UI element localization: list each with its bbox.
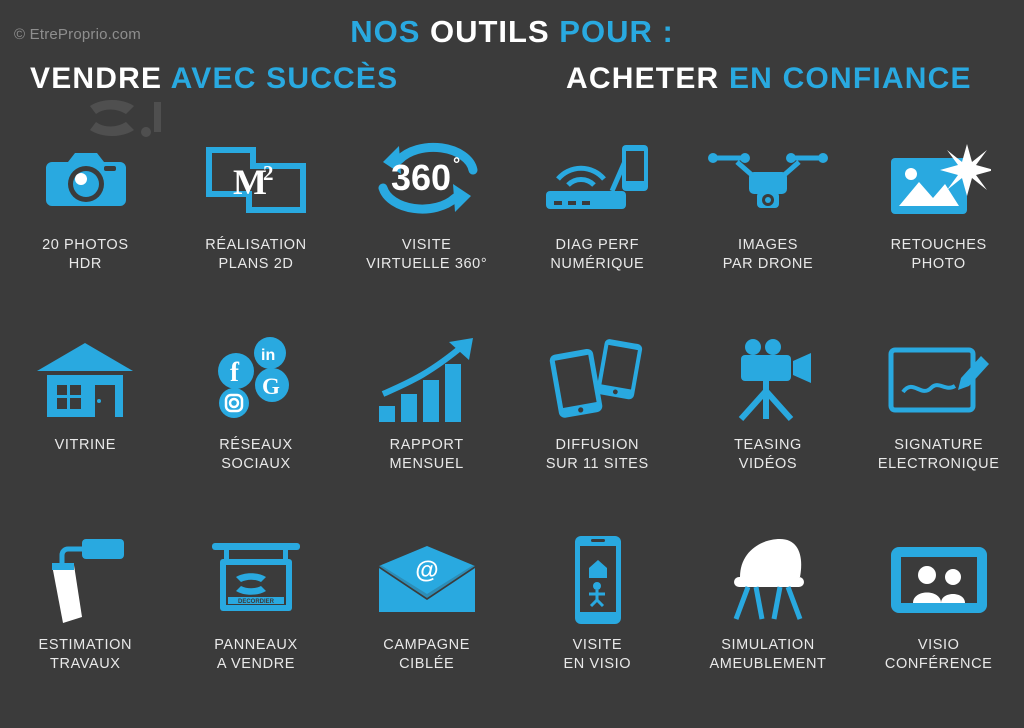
tool-label: 20 PHOTOS HDR	[42, 236, 129, 274]
tool-label: SIMULATION AMEUBLEMENT	[710, 636, 827, 674]
tool-cell-reseaux-sociaux[interactable]: in f G RÉSEAUX SOCIAUX	[171, 332, 342, 532]
tool-cell-panneaux[interactable]: DECORDIER PANNEAUX A VENDRE	[171, 532, 342, 728]
tool-cell-diag-perf[interactable]: DIAG PERF NUMÉRIQUE	[512, 132, 683, 332]
title-part-1: NOS	[350, 14, 430, 49]
tool-cell-vitrine[interactable]: VITRINE	[0, 332, 171, 532]
tool-cell-simulation-ameublement[interactable]: SIMULATION AMEUBLEMENT	[683, 532, 854, 728]
tool-label: RÉSEAUX SOCIAUX	[219, 436, 293, 474]
360-arrows-icon: 360 °	[369, 132, 485, 228]
chair-icon	[722, 532, 814, 628]
social-networks-icon: in f G	[208, 332, 304, 428]
email-envelope-icon: @	[375, 532, 479, 628]
tool-label: DIAG PERF NUMÉRIQUE	[550, 236, 644, 274]
svg-text:°: °	[453, 154, 460, 174]
tool-label: RAPPORT MENSUEL	[390, 436, 464, 474]
tool-label: RÉALISATION PLANS 2D	[205, 236, 306, 274]
tool-label: VISIO CONFÉRENCE	[885, 636, 993, 674]
tool-label: VISITE EN VISIO	[564, 636, 632, 674]
photo-retouch-icon	[887, 132, 991, 228]
tools-grid: 20 PHOTOS HDR M 2 RÉALISATION PLANS 2D	[0, 132, 1024, 728]
subtitle-left: VENDRE AVEC SUCCÈS	[30, 62, 398, 96]
tool-cell-estimation-travaux[interactable]: ESTIMATION TRAVAUX	[0, 532, 171, 728]
svg-text:M: M	[233, 162, 267, 202]
svg-text:360: 360	[391, 157, 451, 198]
tool-cell-plans-2d[interactable]: M 2 RÉALISATION PLANS 2D	[171, 132, 342, 332]
svg-text:G: G	[262, 374, 280, 399]
tool-label: SIGNATURE ELECTRONIQUE	[878, 436, 1000, 474]
bar-chart-arrow-icon	[377, 332, 477, 428]
video-camera-icon	[719, 332, 817, 428]
video-call-phone-icon	[561, 532, 633, 628]
floorplan-m2-icon: M 2	[203, 132, 309, 228]
svg-text:in: in	[261, 347, 275, 364]
tool-cell-visite-visio[interactable]: VISITE EN VISIO	[512, 532, 683, 728]
tool-label: ESTIMATION TRAVAUX	[39, 636, 133, 674]
tool-cell-retouches[interactable]: RETOUCHES PHOTO	[853, 132, 1024, 332]
title-part-2: OUTILS	[430, 14, 550, 49]
tool-cell-rapport-mensuel[interactable]: RAPPORT MENSUEL	[341, 332, 512, 532]
svg-text:@: @	[415, 557, 438, 584]
house-window-icon	[33, 332, 137, 428]
sign-text: DECORDIER	[238, 599, 275, 605]
tool-label: VITRINE	[55, 436, 116, 455]
tool-label: VISITE VIRTUELLE 360°	[366, 236, 487, 274]
tool-label: DIFFUSION SUR 11 SITES	[546, 436, 649, 474]
tool-cell-teasing-videos[interactable]: TEASING VIDÉOS	[683, 332, 854, 532]
tool-label: CAMPAGNE CIBLÉE	[383, 636, 470, 674]
subtitle-right: ACHETER EN CONFIANCE	[566, 62, 972, 96]
title-part-3: POUR :	[550, 14, 674, 49]
tool-cell-visite-360[interactable]: 360 ° VISITE VIRTUELLE 360°	[341, 132, 512, 332]
subtitle-left-part-1: VENDRE	[30, 62, 171, 95]
svg-text:2: 2	[263, 161, 274, 185]
for-sale-sign-icon: DECORDIER	[206, 532, 306, 628]
tool-label: RETOUCHES PHOTO	[891, 236, 987, 274]
svg-text:f: f	[230, 357, 240, 387]
infographic-page: © EtreProprio.com NOS OUTILS POUR : VEND…	[0, 0, 1024, 728]
subtitle-left-part-2: AVEC SUCCÈS	[171, 62, 399, 95]
tablet-phone-icon	[548, 332, 646, 428]
drone-icon	[707, 132, 829, 228]
subtitle-right-part-2: EN CONFIANCE	[729, 62, 972, 95]
subtitle-right-part-1: ACHETER	[566, 62, 729, 95]
visio-tablet-icon	[887, 532, 991, 628]
tool-label: PANNEAUX A VENDRE	[214, 636, 298, 674]
tool-cell-signature[interactable]: SIGNATURE ELECTRONIQUE	[853, 332, 1024, 532]
signature-tablet-icon	[887, 332, 991, 428]
tool-label: IMAGES PAR DRONE	[723, 236, 814, 274]
tool-cell-diffusion[interactable]: DIFFUSION SUR 11 SITES	[512, 332, 683, 532]
tool-cell-visio-conference[interactable]: VISIO CONFÉRENCE	[853, 532, 1024, 728]
router-phone-icon	[542, 132, 652, 228]
tool-cell-drone[interactable]: IMAGES PAR DRONE	[683, 132, 854, 332]
page-title: NOS OUTILS POUR :	[0, 14, 1024, 50]
camera-icon	[42, 132, 128, 228]
tool-cell-campagne-ciblee[interactable]: @ CAMPAGNE CIBLÉE	[341, 532, 512, 728]
tool-label: TEASING VIDÉOS	[734, 436, 802, 474]
tool-cell-photos-hdr[interactable]: 20 PHOTOS HDR	[0, 132, 171, 332]
paint-roller-icon	[42, 532, 128, 628]
